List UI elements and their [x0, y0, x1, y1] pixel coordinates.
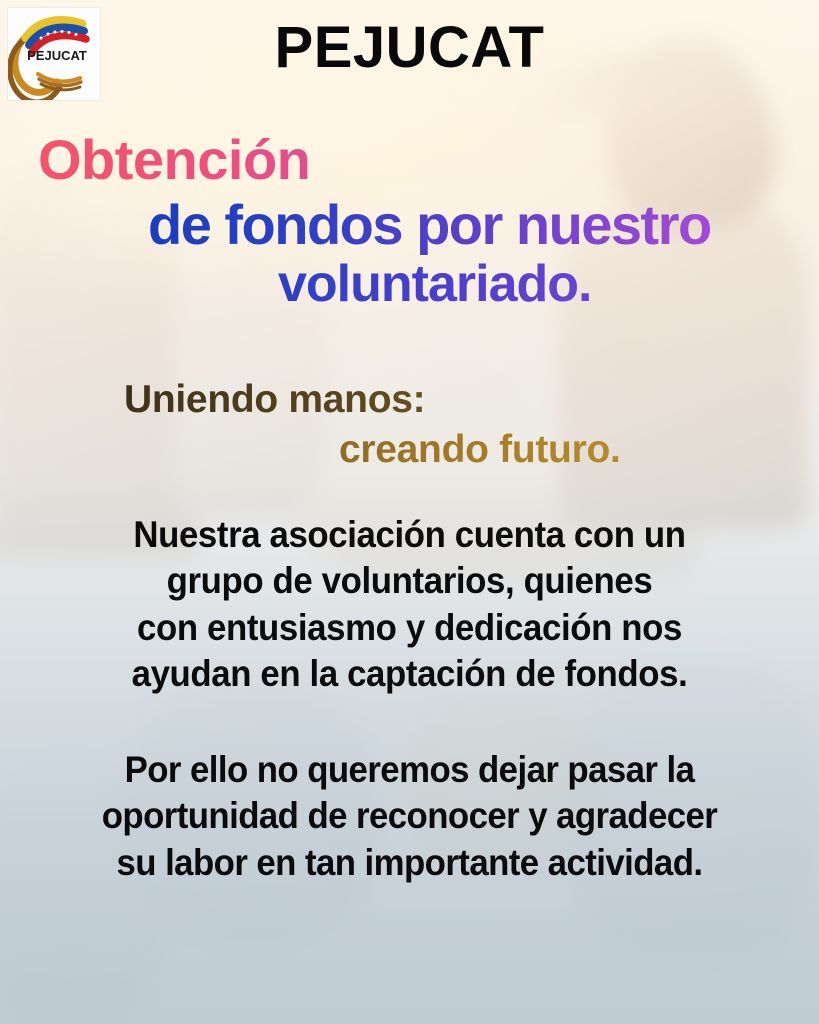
page-title: PEJUCAT — [0, 19, 819, 77]
paragraph-2-line-3: su labor en tan importante actividad. — [25, 840, 795, 886]
slogan-line-1: Uniendo manos: — [124, 378, 819, 422]
paragraph-2-line-1: Por ello no queremos dejar pasar la — [25, 747, 795, 793]
paragraph-1-line-3: con entusiasmo y dedicación nos — [25, 605, 795, 651]
poster-canvas: PEJUCAT PEJUCAT Obtención de fondos por … — [0, 0, 819, 1024]
slogan-block: Uniendo manos: creando futuro. — [0, 378, 819, 471]
paragraph-2-line-2: oportunidad de reconocer y agradecer — [25, 793, 795, 839]
paragraph-1: Nuestra asociación cuenta con un grupo d… — [25, 512, 795, 697]
slogan-line-2: creando futuro. — [339, 428, 819, 472]
paragraph-2: Por ello no queremos dejar pasar la opor… — [25, 747, 795, 886]
body-copy: Nuestra asociación cuenta con un grupo d… — [0, 512, 819, 886]
paragraph-1-line-2: grupo de voluntarios, quienes — [25, 558, 795, 604]
poster-content: PEJUCAT PEJUCAT Obtención de fondos por … — [0, 0, 819, 1024]
headline-line-2: de fondos por nuestro — [148, 196, 819, 255]
paragraph-1-line-4: ayudan en la captación de fondos. — [25, 651, 795, 697]
headline-line-3: voluntariado. — [278, 257, 819, 312]
paragraph-1-line-1: Nuestra asociación cuenta con un — [25, 512, 795, 558]
headline-block: Obtención de fondos por nuestro voluntar… — [0, 130, 819, 312]
headline-line-1: Obtención — [38, 130, 819, 190]
